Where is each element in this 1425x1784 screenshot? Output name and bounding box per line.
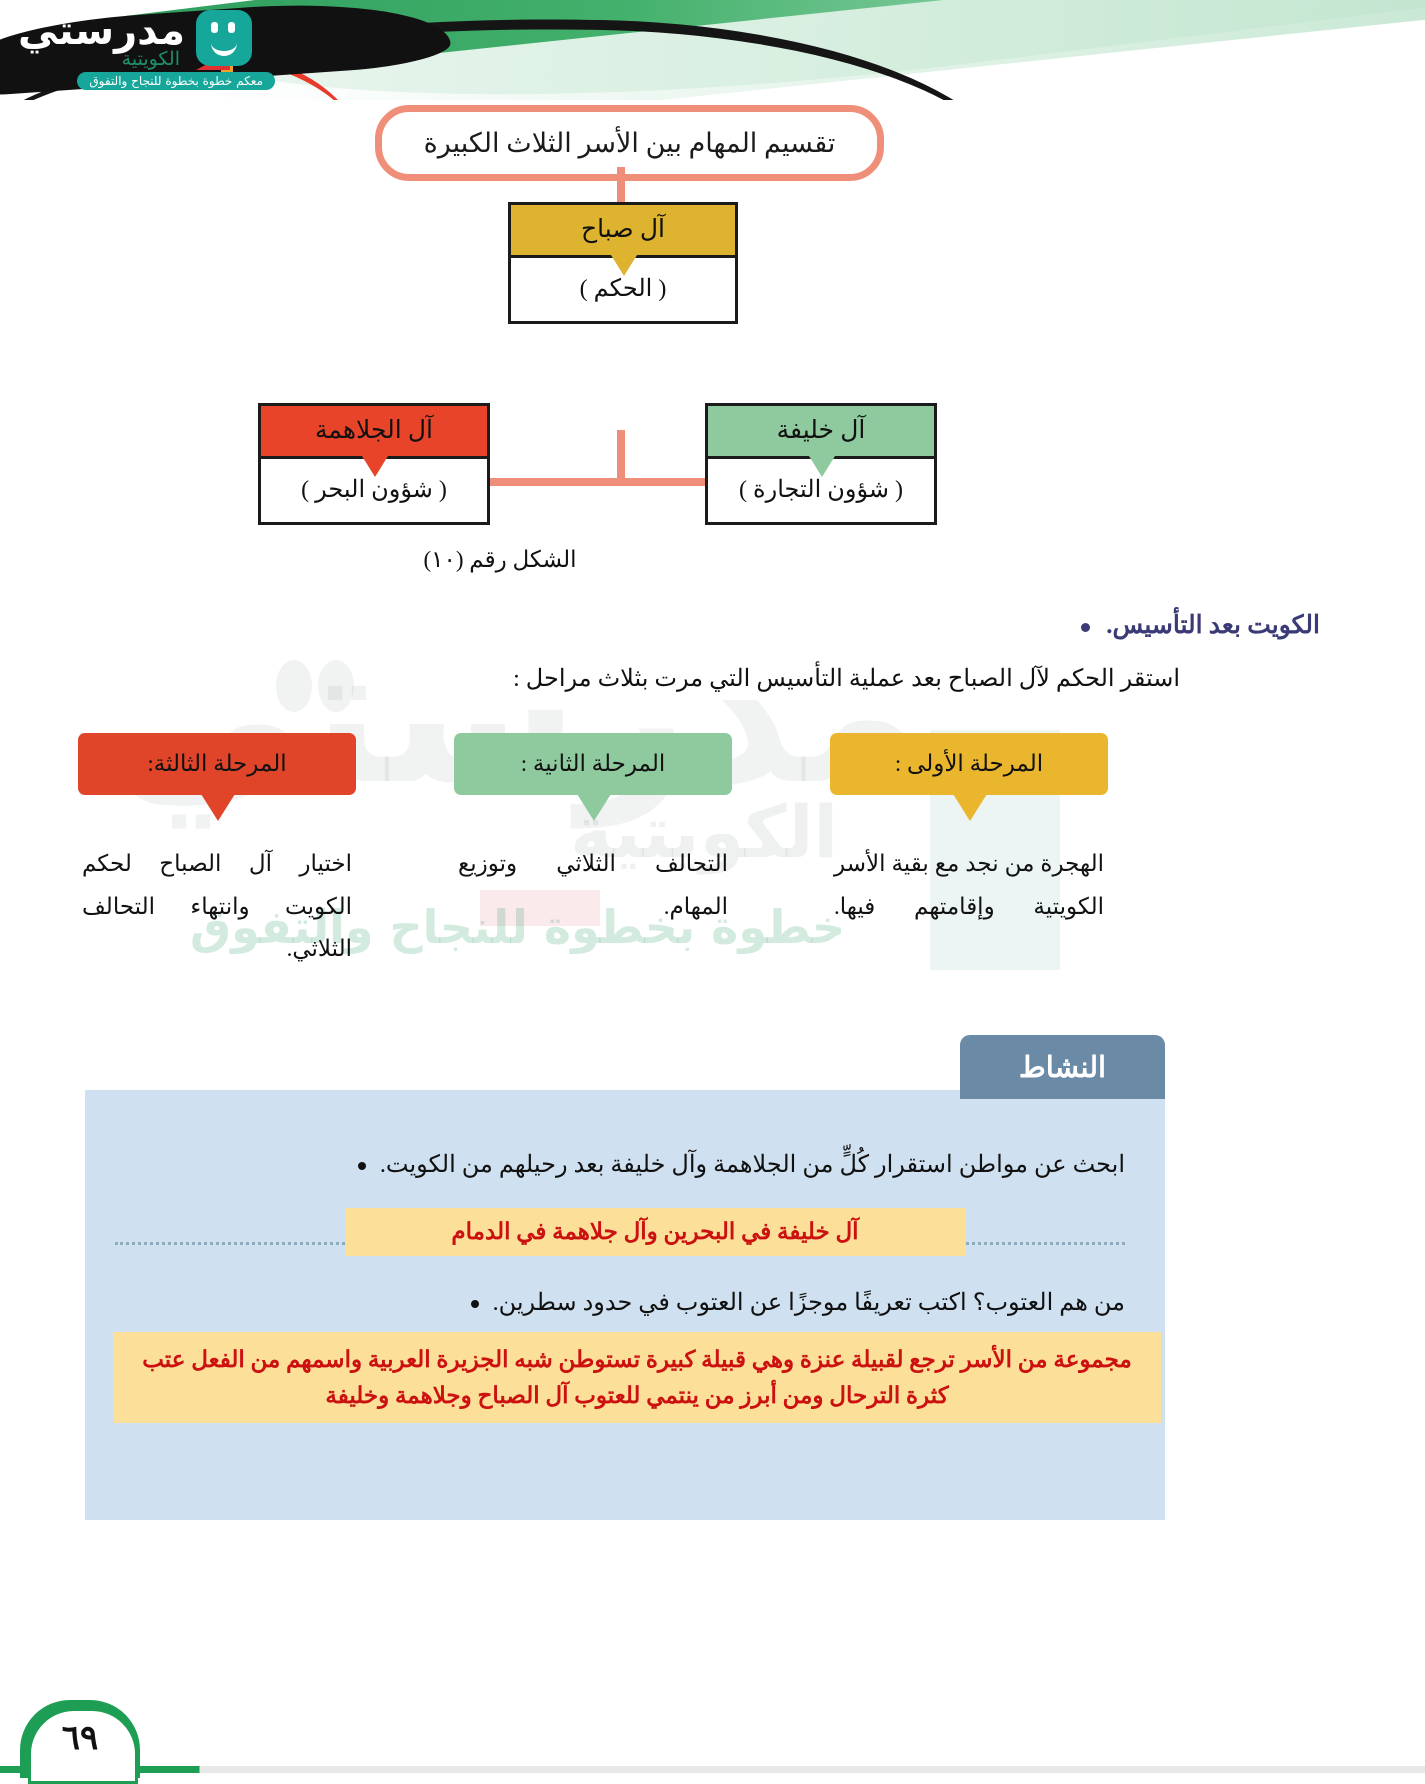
logo-eye-right <box>228 22 235 33</box>
footer-rule <box>0 1766 1425 1773</box>
activity-question-1-text: ابحث عن مواطن استقرار كُلٍّ من الجلاهمة … <box>380 1152 1125 1178</box>
stage-card-first: المرحلة الأولى : الهجرة من نجد مع بقية ا… <box>830 733 1108 928</box>
logo-eye-left <box>211 22 218 33</box>
section-heading-label: الكويت بعد التأسيس. <box>1106 612 1320 639</box>
figure-caption: الشكل رقم (١٠) <box>0 547 1000 573</box>
brand-subtitle: الكويتية <box>122 48 180 70</box>
activity-answer-2[interactable]: مجموعة من الأسر ترجع لقبيلة عنزة وهي قبي… <box>113 1332 1161 1423</box>
stage-banner: المرحلة الأولى : <box>830 733 1108 795</box>
diagram-node-al-khalifa: آل خليفة ( شؤون التجارة ) <box>705 403 937 525</box>
node-header-label: آل الجلاهمة <box>315 417 433 444</box>
diagram-node-al-jalahma: آل الجلاهمة ( شؤون البحر ) <box>258 403 490 525</box>
activity-tab: النشاط <box>960 1035 1165 1099</box>
logo-smile <box>211 38 237 56</box>
stage-card-third: المرحلة الثالثة: اختيار آل الصباح لحكم ا… <box>78 733 356 971</box>
section-intro-paragraph: استقر الحكم لآل الصباح بعد عملية التأسيس… <box>265 664 1180 693</box>
bullet-icon <box>1081 623 1090 632</box>
stage-label: المرحلة الأولى : <box>895 751 1043 777</box>
stage-text: اختيار آل الصباح لحكم الكويت وانتهاء الت… <box>78 843 356 971</box>
activity-panel: ابحث عن مواطن استقرار كُلٍّ من الجلاهمة … <box>85 1090 1165 1520</box>
stage-label: المرحلة الثالثة: <box>147 751 286 777</box>
diagram-node-al-sabah: آل صباح ( الحكم ) <box>508 202 738 324</box>
node-header: آل الجلاهمة <box>261 406 487 459</box>
node-header: آل خليفة <box>708 406 934 459</box>
activity-question-2: من هم العتوب؟ اكتب تعريفًا موجزًا عن الع… <box>125 1288 1125 1317</box>
family-roles-diagram: تقسيم المهام بين الأسر الثلاث الكبيرة آل… <box>0 95 1425 575</box>
activity-question-1: ابحث عن مواطن استقرار كُلٍّ من الجلاهمة … <box>125 1150 1125 1179</box>
stage-card-second: المرحلة الثانية : التحالف الثلاثي وتوزيع… <box>454 733 732 928</box>
brand-tagline: معكم خطوة بخطوة للنجاح والتفوق <box>77 72 275 90</box>
stage-banner: المرحلة الثالثة: <box>78 733 356 795</box>
stage-banner: المرحلة الثانية : <box>454 733 732 795</box>
smiley-logo-icon <box>196 10 252 66</box>
stage-label: المرحلة الثانية : <box>521 751 665 777</box>
bullet-icon <box>358 1162 366 1170</box>
page-number: ٦٩ <box>30 1718 130 1758</box>
page-header-banner: مدرستي الكويتية معكم خطوة بخطوة للنجاح و… <box>0 0 1425 100</box>
connector-mid-vertical <box>617 430 625 478</box>
node-header-label: آل خليفة <box>777 417 866 444</box>
stage-text: التحالف الثلاثي وتوزيع المهام. <box>454 843 732 928</box>
activity-tab-label: النشاط <box>1019 1050 1106 1085</box>
activity-answer-1[interactable]: آل خليفة في البحرين وآل جلاهمة في الدمام <box>345 1208 965 1256</box>
node-header: آل صباح <box>511 205 735 258</box>
node-header-label: آل صباح <box>581 216 665 243</box>
stage-text: الهجرة من نجد مع بقية الأسر الكويتية وإق… <box>830 843 1108 928</box>
activity-question-2-text: من هم العتوب؟ اكتب تعريفًا موجزًا عن الع… <box>493 1290 1125 1316</box>
connector-root-vertical <box>617 167 625 202</box>
section-heading: الكويت بعد التأسيس. <box>1081 610 1320 640</box>
stages-row: المرحلة الأولى : الهجرة من نجد مع بقية ا… <box>78 733 1108 1003</box>
diagram-title: تقسيم المهام بين الأسر الثلاث الكبيرة <box>375 105 884 181</box>
bullet-icon <box>471 1300 479 1308</box>
